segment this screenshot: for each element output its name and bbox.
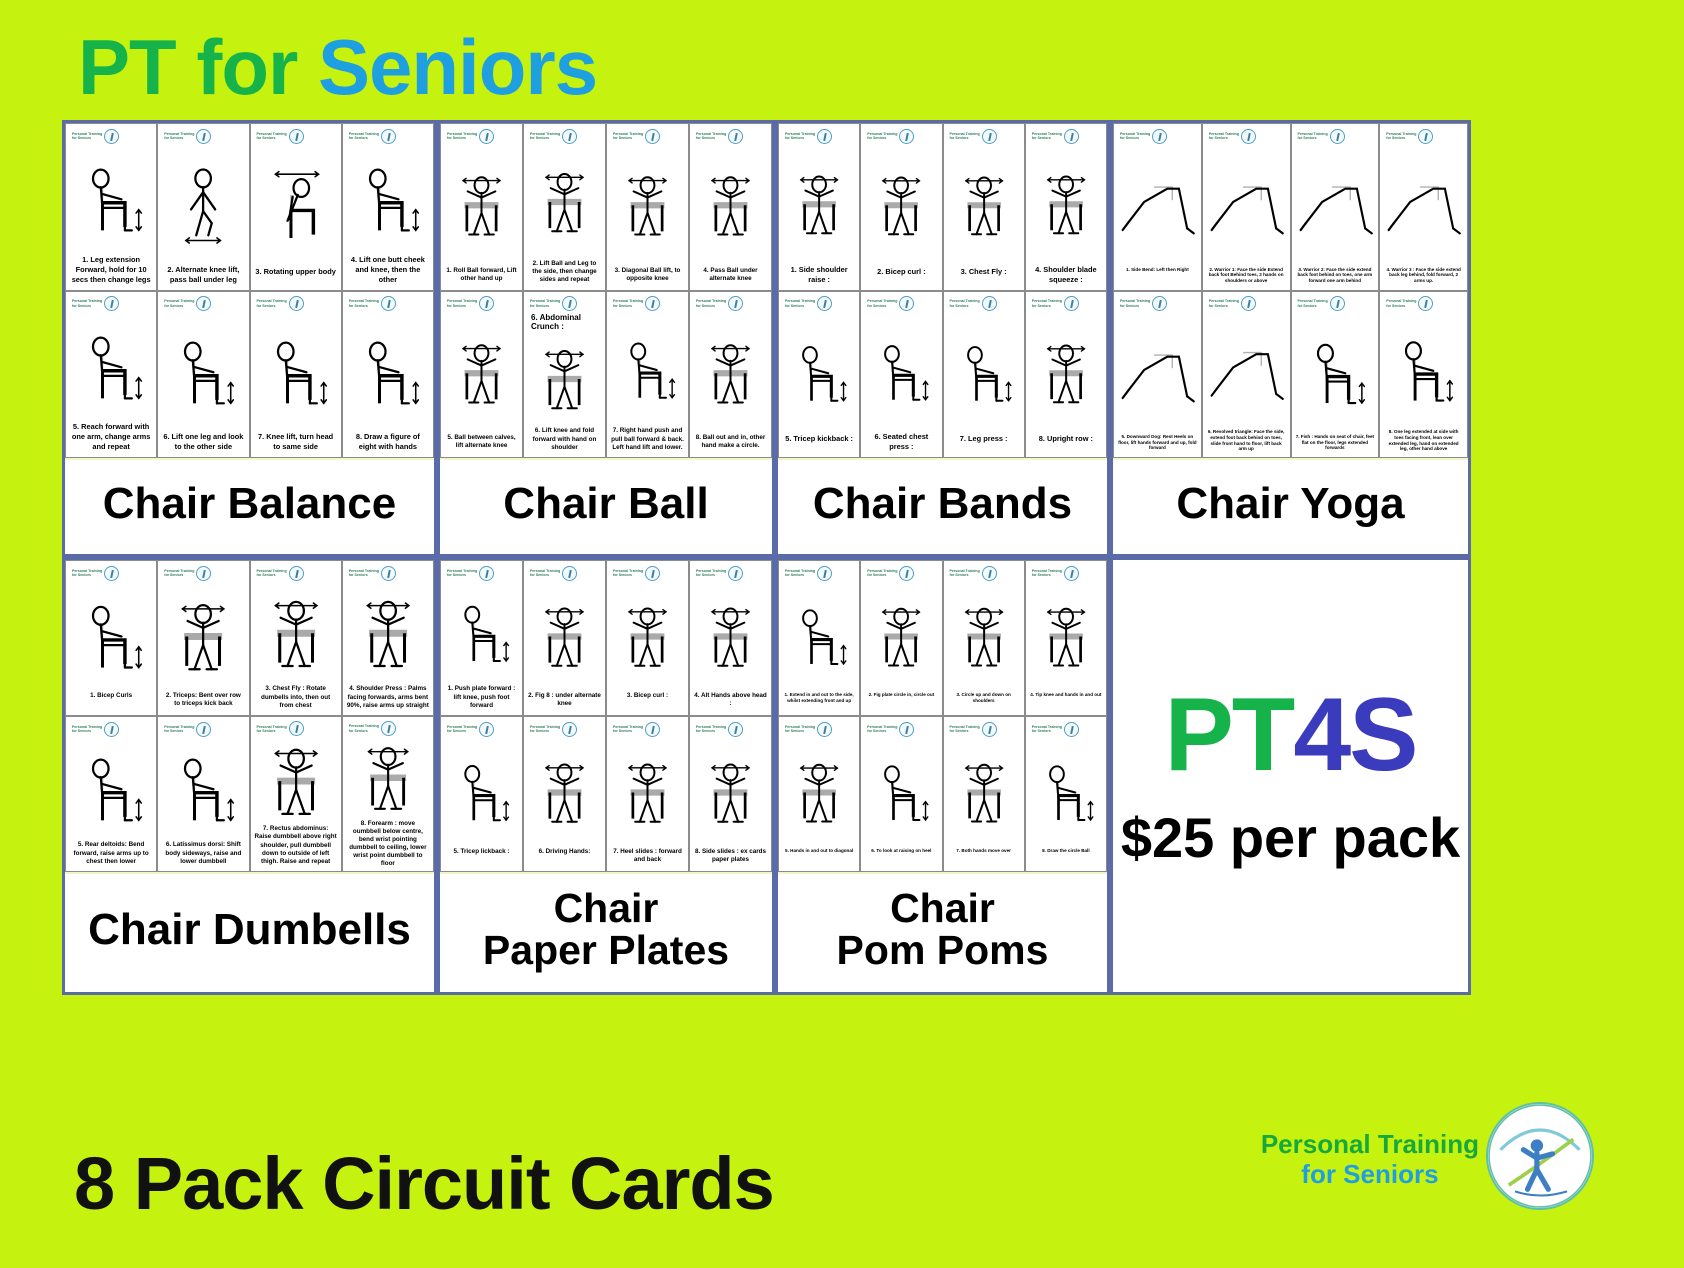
stick-figure-db-rear-deltoids xyxy=(68,738,154,840)
card-caption: 6. Lift knee and fold forward with hand … xyxy=(526,426,603,455)
card-brand-text: Personal Training for Seniors xyxy=(164,725,194,734)
card-caption: 3. Chest Fly : Rotate dumbells into, the… xyxy=(253,684,339,713)
stick-figure-seated-butt-lift xyxy=(345,145,431,254)
card-brand: Personal Training for Seniors xyxy=(345,127,431,145)
exercise-card[interactable]: Personal Training for Seniors6. Abdomina… xyxy=(523,291,606,459)
person-exercise-icon xyxy=(645,722,660,737)
card-caption: 4. Shoulder Press : Palms facing forward… xyxy=(345,684,431,713)
person-exercise-icon xyxy=(982,566,997,581)
card-brand-text: Personal Training for Seniors xyxy=(696,569,726,578)
card-brand: Personal Training for Seniors xyxy=(781,564,857,582)
card-illustration xyxy=(1382,145,1465,266)
person-exercise-icon xyxy=(899,296,914,311)
packs-grid: Personal Training for Seniors1. Leg exte… xyxy=(62,120,1471,995)
card-caption: 6. Lift one leg and look to the other si… xyxy=(160,431,246,455)
pack-cards: Personal Training for Seniors1. Bicep Cu… xyxy=(65,560,434,872)
card-illustration xyxy=(609,313,686,427)
card-brand-text: Personal Training for Seniors xyxy=(72,725,102,734)
card-illustration xyxy=(160,145,246,264)
card-brand-text: Personal Training for Seniors xyxy=(696,299,726,308)
stick-figure-rotating-upper-body xyxy=(253,145,339,266)
stick-figure-band-leg-press xyxy=(946,313,1022,434)
card-brand: Personal Training for Seniors xyxy=(160,295,246,313)
pack-chair-paper-plates[interactable]: Personal Training for Seniors1. Push pla… xyxy=(437,557,775,995)
card-caption: 5. Tricep kickback : xyxy=(781,433,857,455)
card-brand-text: Personal Training for Seniors xyxy=(1209,299,1239,308)
exercise-card[interactable]: Personal Training for Seniors6. Lift one… xyxy=(157,291,249,459)
card-brand-text: Personal Training for Seniors xyxy=(1298,132,1328,141)
exercise-card[interactable]: Personal Training for Seniors8. One leg … xyxy=(1379,291,1468,459)
card-brand: Personal Training for Seniors xyxy=(863,720,939,738)
card-illustration xyxy=(160,582,246,691)
exercise-card[interactable]: Personal Training for Seniors5. Rear del… xyxy=(65,716,157,872)
card-brand: Personal Training for Seniors xyxy=(1028,127,1104,145)
card-brand-text: Personal Training for Seniors xyxy=(72,299,102,308)
card-brand-text: Personal Training for Seniors xyxy=(257,725,287,734)
card-caption: 3. Warrior 2: Face the side extend back … xyxy=(1294,266,1377,288)
card-brand-text: Personal Training for Seniors xyxy=(1120,132,1150,141)
exercise-card[interactable]: Personal Training for Seniors8. Forearm … xyxy=(342,716,434,872)
person-exercise-icon xyxy=(196,566,211,581)
card-brand-text: Personal Training for Seniors xyxy=(1209,132,1239,141)
exercise-card[interactable]: Personal Training for Seniors2. Triceps:… xyxy=(157,560,249,716)
exercise-card[interactable]: Personal Training for Seniors4. Shoulder… xyxy=(342,560,434,716)
person-exercise-icon xyxy=(1064,566,1079,581)
pack-chair-bands[interactable]: Personal Training for Seniors1. Side sho… xyxy=(775,120,1110,557)
pack-chair-pom-poms[interactable]: Personal Training for Seniors1. Extend i… xyxy=(775,557,1110,995)
exercise-card[interactable]: Personal Training for Seniors1. Roll Bal… xyxy=(440,123,523,291)
card-illustration xyxy=(609,145,686,266)
card-caption: 2. Fig plate circle in, circle out xyxy=(863,691,939,713)
card-brand: Personal Training for Seniors xyxy=(160,720,246,738)
card-caption: 7. Right hand push and pull ball forward… xyxy=(609,426,686,455)
stick-figure-yoga-revolved-triangle xyxy=(1205,313,1288,429)
exercise-card[interactable]: Personal Training for Seniors8. Draw the… xyxy=(1025,716,1107,872)
exercise-card[interactable]: Personal Training for Seniors1. Extend i… xyxy=(778,560,860,716)
card-brand-text: Personal Training for Seniors xyxy=(1386,299,1416,308)
stick-figure-yoga-side-extend xyxy=(1382,313,1465,429)
exercise-card[interactable]: Personal Training for Seniors6. Revolved… xyxy=(1202,291,1291,459)
card-illustration xyxy=(1028,313,1104,434)
card-caption: 7. Knee lift, turn head to same side xyxy=(253,431,339,455)
person-exercise-icon xyxy=(1488,1104,1592,1208)
card-illustration xyxy=(443,145,520,266)
exercise-card[interactable]: Personal Training for Seniors2. Bicep cu… xyxy=(860,123,942,291)
card-illustration xyxy=(68,313,154,422)
card-caption: 5. Reach forward with one arm, change ar… xyxy=(68,421,154,455)
stick-figure-pom-circles xyxy=(863,582,939,691)
card-brand-text: Personal Training for Seniors xyxy=(164,569,194,578)
promo-panel: PT4S$25 per pack xyxy=(1110,557,1471,995)
card-caption: 8. One leg extended at side with toes fa… xyxy=(1382,428,1465,455)
exercise-card[interactable]: Personal Training for Seniors2. Fig plat… xyxy=(860,560,942,716)
card-illustration xyxy=(253,738,339,824)
card-brand-text: Personal Training for Seniors xyxy=(1032,569,1062,578)
card-brand: Personal Training for Seniors xyxy=(345,564,431,582)
exercise-card[interactable]: Personal Training for Seniors8. Side sli… xyxy=(689,716,772,872)
card-brand: Personal Training for Seniors xyxy=(160,127,246,145)
card-illustration xyxy=(345,582,431,684)
card-brand-text: Personal Training for Seniors xyxy=(447,725,477,734)
person-exercise-icon xyxy=(817,722,832,737)
pack-label: Chair Ball xyxy=(440,458,772,554)
card-brand: Personal Training for Seniors xyxy=(68,127,154,145)
card-illustration xyxy=(526,145,603,259)
pack-cards: Personal Training for Seniors1. Push pla… xyxy=(440,560,772,872)
card-brand-text: Personal Training for Seniors xyxy=(613,299,643,308)
card-caption: 4. Lift one butt cheek and knee, then th… xyxy=(345,254,431,288)
person-exercise-icon xyxy=(381,566,396,581)
card-caption: 4. Alt Hands above head : xyxy=(692,691,769,713)
stick-figure-ball-pass-under-knee xyxy=(692,145,769,266)
card-caption: 8. Side slides : ex cards paper plates xyxy=(692,847,769,869)
person-exercise-icon xyxy=(817,296,832,311)
exercise-card[interactable]: Personal Training for Seniors4. Pass Bal… xyxy=(689,123,772,291)
title-part-seniors: Seniors xyxy=(318,23,597,111)
exercise-card[interactable]: Personal Training for Seniors1. Side Ben… xyxy=(1113,123,1202,291)
person-exercise-icon xyxy=(982,722,997,737)
exercise-card[interactable]: Personal Training for Seniors6. Driving … xyxy=(523,716,606,872)
card-brand: Personal Training for Seniors xyxy=(68,564,154,582)
card-brand: Personal Training for Seniors xyxy=(609,720,686,738)
card-illustration xyxy=(1116,145,1199,266)
stick-figure-pp-bicep-curl xyxy=(609,582,686,691)
stick-figure-band-shoulder-blade-squeeze xyxy=(1028,145,1104,264)
stick-figure-standing-knee-lift xyxy=(160,145,246,264)
person-exercise-icon xyxy=(381,129,396,144)
pt4s-part-pt: PT xyxy=(1164,677,1293,793)
card-illustration xyxy=(863,738,939,847)
exercise-card[interactable]: Personal Training for Seniors4. Tip knee… xyxy=(1025,560,1107,716)
card-brand: Personal Training for Seniors xyxy=(692,720,769,738)
card-brand: Personal Training for Seniors xyxy=(345,720,431,737)
person-exercise-icon xyxy=(289,566,304,581)
exercise-card[interactable]: Personal Training for Seniors6. To look … xyxy=(860,716,942,872)
pack-label: Chair Paper Plates xyxy=(440,872,772,992)
card-brand-text: Personal Training for Seniors xyxy=(349,299,379,308)
card-brand-text: Personal Training for Seniors xyxy=(1032,132,1062,141)
card-illustration xyxy=(781,738,857,847)
exercise-card[interactable]: Personal Training for Seniors3. Bicep cu… xyxy=(606,560,689,716)
exercise-card[interactable]: Personal Training for Seniors8. Draw a f… xyxy=(342,291,434,459)
card-brand: Personal Training for Seniors xyxy=(946,127,1022,145)
exercise-card[interactable]: Personal Training for Seniors4. Alt Hand… xyxy=(689,560,772,716)
exercise-card[interactable]: Personal Training for Seniors3. Circle u… xyxy=(943,560,1025,716)
card-caption: 8. Draw the circle Ball xyxy=(1028,847,1104,869)
exercise-card[interactable]: Personal Training for Seniors3. Diagonal… xyxy=(606,123,689,291)
card-brand-text: Personal Training for Seniors xyxy=(867,132,897,141)
pack-cards: Personal Training for Seniors1. Roll Bal… xyxy=(440,123,772,458)
card-illustration xyxy=(863,582,939,691)
card-brand-text: Personal Training for Seniors xyxy=(696,132,726,141)
card-brand-text: Personal Training for Seniors xyxy=(785,569,815,578)
card-brand: Personal Training for Seniors xyxy=(443,295,520,313)
card-illustration xyxy=(345,313,431,432)
card-brand: Personal Training for Seniors xyxy=(1205,295,1288,313)
exercise-card[interactable]: Personal Training for Seniors5. Tricep k… xyxy=(778,291,860,459)
card-illustration xyxy=(1294,313,1377,434)
page-title: PT for Seniors xyxy=(78,22,597,113)
card-caption: 2. Bicep curl : xyxy=(863,266,939,288)
exercise-card[interactable]: Personal Training for Seniors5. Reach fo… xyxy=(65,291,157,459)
card-caption: 4. Pass Ball under alternate knee xyxy=(692,266,769,288)
card-brand-text: Personal Training for Seniors xyxy=(447,132,477,141)
card-caption: 6. Driving Hands: xyxy=(526,847,603,869)
price-label: $25 per pack xyxy=(1121,805,1460,870)
card-brand-text: Personal Training for Seniors xyxy=(530,569,560,578)
card-caption: 2. Fig 8 : under alternate knee xyxy=(526,691,603,713)
card-brand: Personal Training for Seniors xyxy=(609,564,686,582)
card-brand: Personal Training for Seniors xyxy=(1294,127,1377,145)
exercise-card[interactable]: Personal Training for Seniors7. Knee lif… xyxy=(250,291,342,459)
card-brand-text: Personal Training for Seniors xyxy=(785,299,815,308)
stick-figure-band-bicep-curl xyxy=(863,145,939,266)
person-exercise-icon xyxy=(196,296,211,311)
card-illustration xyxy=(253,313,339,432)
stick-figure-db-chest-fly xyxy=(253,582,339,684)
stick-figure-pp-tricep-kickback xyxy=(443,738,520,847)
card-brand-text: Personal Training for Seniors xyxy=(447,569,477,578)
card-illustration xyxy=(1294,145,1377,266)
card-caption: 8. Draw a figure of eight with hands xyxy=(345,431,431,455)
card-brand: Personal Training for Seniors xyxy=(1028,564,1104,582)
person-exercise-icon xyxy=(381,296,396,311)
exercise-card[interactable]: Personal Training for Seniors3. Chest Fl… xyxy=(250,560,342,716)
stick-figure-ball-roll-forward xyxy=(443,145,520,266)
exercise-card[interactable]: Personal Training for Seniors5. Tricep l… xyxy=(440,716,523,872)
card-brand: Personal Training for Seniors xyxy=(443,127,520,145)
exercise-card[interactable]: Personal Training for Seniors4. Shoulder… xyxy=(1025,123,1107,291)
exercise-card[interactable]: Personal Training for Seniors4. Lift one… xyxy=(342,123,434,291)
stick-figure-pom-shoulder-circle xyxy=(946,582,1022,691)
card-brand: Personal Training for Seniors xyxy=(1294,295,1377,313)
exercise-card[interactable]: Personal Training for Seniors1. Bicep Cu… xyxy=(65,560,157,716)
exercise-card[interactable]: Personal Training for Seniors5. Ball bet… xyxy=(440,291,523,459)
exercise-card[interactable]: Personal Training for Seniors7. Fish : H… xyxy=(1291,291,1380,459)
card-caption: 3. Rotating upper body xyxy=(253,266,339,288)
person-exercise-icon xyxy=(196,129,211,144)
card-illustration xyxy=(1028,582,1104,691)
card-caption: 5. Downward Dog: Rest Heels on floor, li… xyxy=(1116,433,1199,455)
card-illustration xyxy=(160,313,246,432)
stick-figure-seated-reach-forward xyxy=(68,313,154,422)
card-caption: 7. Leg press : xyxy=(946,433,1022,455)
card-caption: 5. Tricep lickback : xyxy=(443,847,520,869)
card-caption: 4. Tip knee and hands in and out xyxy=(1028,691,1104,713)
card-brand: Personal Training for Seniors xyxy=(946,720,1022,738)
card-brand-text: Personal Training for Seniors xyxy=(257,299,287,308)
card-caption: 2. Alternate knee lift, pass ball under … xyxy=(160,264,246,288)
person-exercise-icon xyxy=(289,296,304,311)
stick-figure-band-chest-fly xyxy=(946,145,1022,266)
card-illustration xyxy=(781,313,857,434)
stick-figure-band-seated-chest-press xyxy=(863,313,939,432)
card-brand: Personal Training for Seniors xyxy=(345,295,431,313)
card-illustration xyxy=(253,582,339,684)
exercise-card[interactable]: Personal Training for Seniors7. Right ha… xyxy=(606,291,689,459)
card-illustration xyxy=(68,145,154,254)
person-exercise-icon xyxy=(1330,296,1345,311)
card-brand: Personal Training for Seniors xyxy=(526,295,603,313)
card-brand: Personal Training for Seniors xyxy=(692,295,769,313)
pack-label: Chair Balance xyxy=(65,458,434,554)
exercise-card[interactable]: Personal Training for Seniors3. Warrior … xyxy=(1291,123,1380,291)
exercise-card[interactable]: Personal Training for Seniors2. Lift Bal… xyxy=(523,123,606,291)
card-brand-text: Personal Training for Seniors xyxy=(950,299,980,308)
card-brand-text: Personal Training for Seniors xyxy=(72,132,102,141)
exercise-card[interactable]: Personal Training for Seniors1. Push pla… xyxy=(440,560,523,716)
person-exercise-icon xyxy=(562,722,577,737)
card-caption: 7. Both hands move over xyxy=(946,847,1022,869)
exercise-card[interactable]: Personal Training for Seniors3. Rotating… xyxy=(250,123,342,291)
exercise-card[interactable]: Personal Training for Seniors3. Chest Fl… xyxy=(943,123,1025,291)
person-exercise-icon xyxy=(1418,296,1433,311)
exercise-card[interactable]: Personal Training for Seniors2. Fig 8 : … xyxy=(523,560,606,716)
stick-figure-yoga-warrior-3 xyxy=(1382,145,1465,266)
card-brand: Personal Training for Seniors xyxy=(526,720,603,738)
exercise-card[interactable]: Personal Training for Seniors7. Heel sli… xyxy=(606,716,689,872)
person-exercise-icon xyxy=(982,296,997,311)
footer-brand-line2: for Seniors xyxy=(1261,1159,1479,1190)
card-caption: 6. Latissimus dorsi: Shift body sideways… xyxy=(160,840,246,869)
card-brand-text: Personal Training for Seniors xyxy=(613,569,643,578)
card-brand-text: Personal Training for Seniors xyxy=(530,299,560,308)
stick-figure-seated-figure-eight xyxy=(345,313,431,432)
card-illustration xyxy=(526,582,603,691)
card-brand-text: Personal Training for Seniors xyxy=(1298,299,1328,308)
person-exercise-icon xyxy=(899,129,914,144)
card-caption: 7. Rectus abdominus: Raise dumbbell abov… xyxy=(253,824,339,869)
card-illustration xyxy=(781,582,857,691)
card-brand-text: Personal Training for Seniors xyxy=(867,569,897,578)
card-brand-text: Personal Training for Seniors xyxy=(1032,725,1062,734)
card-brand: Personal Training for Seniors xyxy=(1028,295,1104,313)
card-brand: Personal Training for Seniors xyxy=(526,127,603,145)
card-caption: 2. Lift Ball and Leg to the side, then c… xyxy=(526,259,603,288)
exercise-card[interactable]: Personal Training for Seniors6. Seated c… xyxy=(860,291,942,459)
person-exercise-icon xyxy=(104,129,119,144)
card-brand-text: Personal Training for Seniors xyxy=(1386,132,1416,141)
exercise-card[interactable]: Personal Training for Seniors7. Leg pres… xyxy=(943,291,1025,459)
card-brand: Personal Training for Seniors xyxy=(946,564,1022,582)
person-exercise-icon xyxy=(1064,129,1079,144)
card-brand: Personal Training for Seniors xyxy=(946,295,1022,313)
pack-chair-ball[interactable]: Personal Training for Seniors1. Roll Bal… xyxy=(437,120,775,557)
stick-figure-seated-leg-lift-look xyxy=(160,313,246,432)
exercise-card[interactable]: Personal Training for Seniors2. Alternat… xyxy=(157,123,249,291)
card-caption: 2. Triceps: Bent over row to triceps kic… xyxy=(160,691,246,713)
exercise-card[interactable]: Personal Training for Seniors4. Warrior … xyxy=(1379,123,1468,291)
person-exercise-icon xyxy=(479,129,494,144)
card-brand: Personal Training for Seniors xyxy=(1028,720,1104,738)
card-brand: Personal Training for Seniors xyxy=(160,564,246,582)
card-illustration xyxy=(1205,145,1288,266)
stick-figure-db-forearm xyxy=(345,737,431,819)
card-illustration xyxy=(863,145,939,266)
card-brand-text: Personal Training for Seniors xyxy=(950,725,980,734)
exercise-card[interactable]: Personal Training for Seniors5. Hands in… xyxy=(778,716,860,872)
stick-figure-ball-push-pull xyxy=(609,313,686,427)
card-brand: Personal Training for Seniors xyxy=(1382,295,1465,313)
card-brand-text: Personal Training for Seniors xyxy=(785,132,815,141)
card-caption: 5. Hands in and out to diagonal xyxy=(781,847,857,869)
card-brand: Personal Training for Seniors xyxy=(253,295,339,313)
card-brand: Personal Training for Seniors xyxy=(863,295,939,313)
card-caption: 1. Extend in and out to the side, whilst… xyxy=(781,691,857,713)
stick-figure-pp-push-plate-forward xyxy=(443,582,520,684)
card-caption: 6. Revolved triangle: Face the side, ext… xyxy=(1205,428,1288,455)
pack-cards: Personal Training for Seniors1. Extend i… xyxy=(778,560,1107,872)
card-illustration xyxy=(68,582,154,691)
card-brand: Personal Training for Seniors xyxy=(253,127,339,145)
card-illustration xyxy=(345,145,431,254)
card-illustration xyxy=(443,582,520,684)
pack-chair-dumbells[interactable]: Personal Training for Seniors1. Bicep Cu… xyxy=(62,557,437,995)
person-exercise-icon xyxy=(1152,296,1167,311)
exercise-card[interactable]: Personal Training for Seniors7. Both han… xyxy=(943,716,1025,872)
exercise-card[interactable]: Personal Training for Seniors8. Upright … xyxy=(1025,291,1107,459)
card-caption: 3. Diagonal Ball lift, to opposite knee xyxy=(609,266,686,288)
person-exercise-icon xyxy=(982,129,997,144)
person-exercise-icon xyxy=(1064,296,1079,311)
stick-figure-ball-diagonal-lift xyxy=(609,145,686,266)
exercise-card[interactable]: Personal Training for Seniors1. Side sho… xyxy=(778,123,860,291)
person-exercise-icon xyxy=(562,129,577,144)
exercise-card[interactable]: Personal Training for Seniors7. Rectus a… xyxy=(250,716,342,872)
person-exercise-icon xyxy=(728,566,743,581)
pack-cards: Personal Training for Seniors1. Side sho… xyxy=(778,123,1107,458)
card-brand-text: Personal Training for Seniors xyxy=(867,725,897,734)
card-brand-text: Personal Training for Seniors xyxy=(349,724,379,733)
person-exercise-icon xyxy=(1241,296,1256,311)
card-illustration xyxy=(526,738,603,847)
stick-figure-ball-lift-side xyxy=(526,145,603,259)
card-brand-text: Personal Training for Seniors xyxy=(613,132,643,141)
card-brand: Personal Training for Seniors xyxy=(1205,127,1288,145)
card-caption: 1. Side Bend: Left then Right xyxy=(1116,266,1199,288)
exercise-card[interactable]: Personal Training for Seniors2. Warrior … xyxy=(1202,123,1291,291)
card-caption: 4. Warrior 3 : Face the side extend back… xyxy=(1382,266,1465,288)
card-illustration xyxy=(345,737,431,819)
exercise-card[interactable]: Personal Training for Seniors8. Ball out… xyxy=(689,291,772,459)
card-illustration xyxy=(1028,145,1104,264)
person-exercise-icon xyxy=(1152,129,1167,144)
stick-figure-pom-hands-diagonal xyxy=(781,738,857,847)
stick-figure-pp-driving-hands xyxy=(526,738,603,847)
card-illustration xyxy=(781,145,857,264)
card-brand-text: Personal Training for Seniors xyxy=(72,569,102,578)
card-caption: 2. Warrior 1: Face the side Extend back … xyxy=(1205,266,1288,288)
footer-brand: Personal Training for Seniors xyxy=(1261,1129,1479,1190)
pack-chair-balance[interactable]: Personal Training for Seniors1. Leg exte… xyxy=(62,120,437,557)
card-illustration xyxy=(692,313,769,434)
card-caption-heading: 6. Abdominal Crunch : xyxy=(526,313,603,331)
stick-figure-band-upright-row xyxy=(1028,313,1104,434)
exercise-card[interactable]: Personal Training for Seniors6. Latissim… xyxy=(157,716,249,872)
footer-brand-line1: Personal Training xyxy=(1261,1129,1479,1160)
person-exercise-icon xyxy=(728,296,743,311)
stick-figure-pom-draw-circle xyxy=(1028,738,1104,847)
exercise-card[interactable]: Personal Training for Seniors1. Leg exte… xyxy=(65,123,157,291)
pack-chair-yoga[interactable]: Personal Training for Seniors1. Side Ben… xyxy=(1110,120,1471,557)
stick-figure-db-rectus-abdominus xyxy=(253,738,339,824)
person-exercise-icon xyxy=(1330,129,1345,144)
exercise-card[interactable]: Personal Training for Seniors5. Downward… xyxy=(1113,291,1202,459)
person-exercise-icon xyxy=(817,566,832,581)
person-exercise-icon xyxy=(645,296,660,311)
card-brand-text: Personal Training for Seniors xyxy=(164,132,194,141)
person-exercise-icon xyxy=(289,721,304,736)
